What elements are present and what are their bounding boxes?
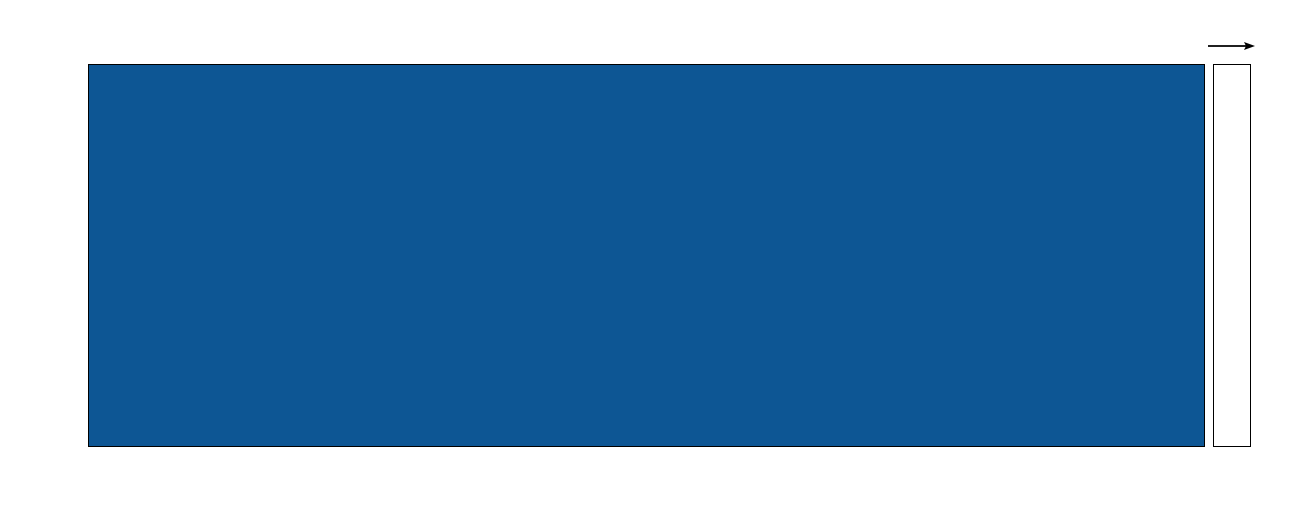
wind-key-arrow-icon bbox=[1208, 38, 1256, 54]
y-axis-tick-labels bbox=[0, 0, 80, 526]
colorbar-gradient bbox=[1213, 64, 1251, 447]
cross-section-plot bbox=[89, 65, 1204, 446]
figure-canvas bbox=[0, 0, 1312, 526]
colorbar-title-holder bbox=[1255, 0, 1312, 64]
plot-area bbox=[88, 64, 1205, 447]
colorbar bbox=[1213, 64, 1251, 447]
